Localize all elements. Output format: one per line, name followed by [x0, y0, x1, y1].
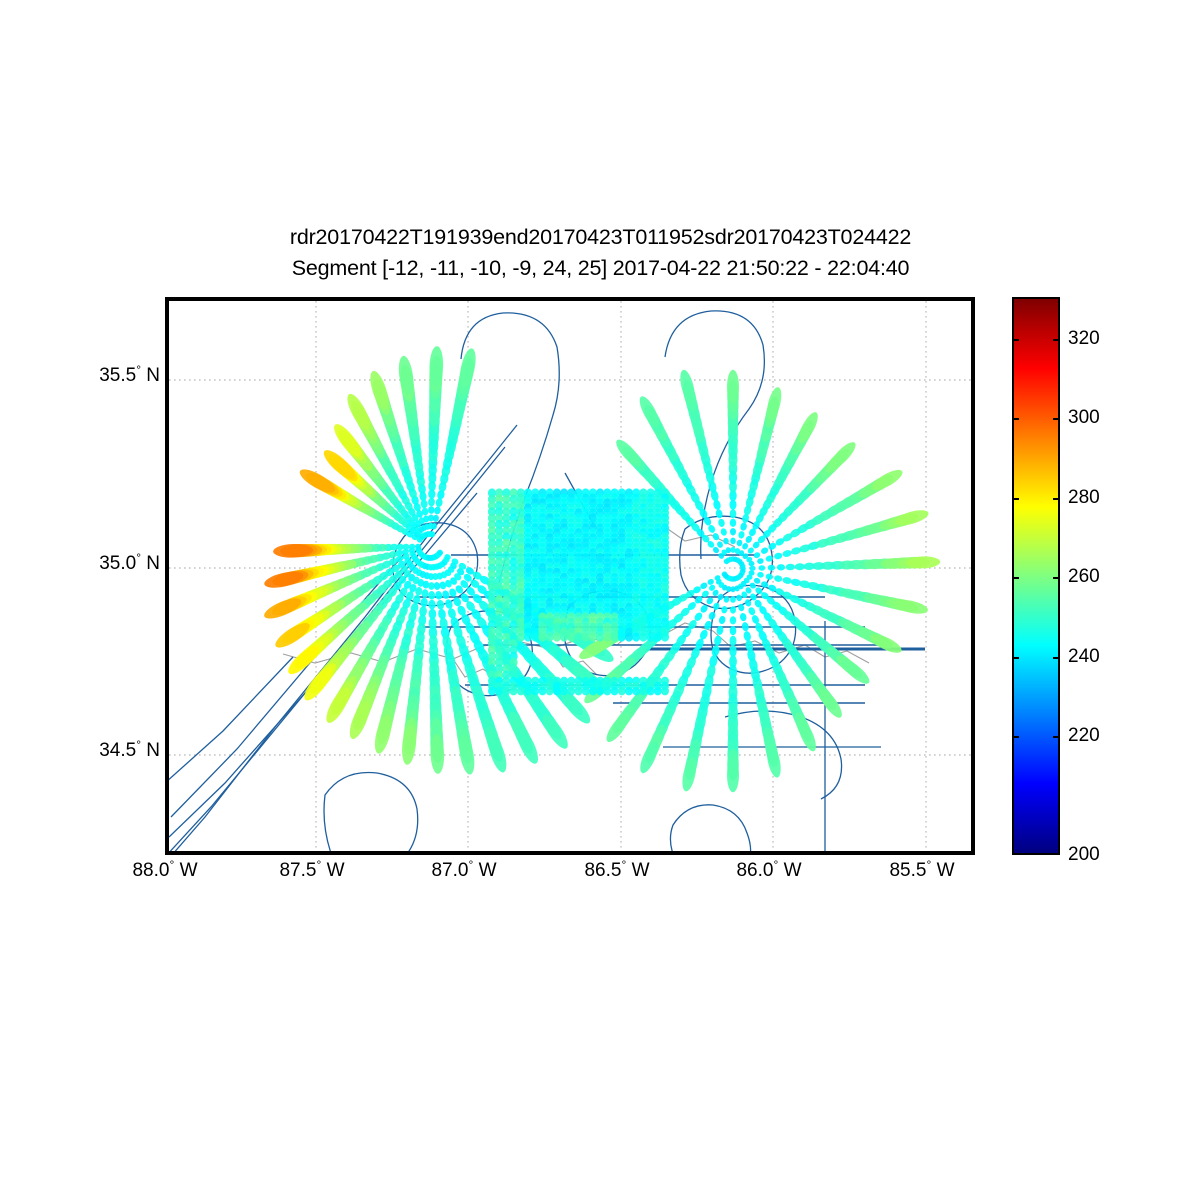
colorbar-tick-label: 260: [1068, 566, 1100, 588]
footprint-ellipse: [560, 632, 568, 641]
map-plot-area: [165, 297, 975, 855]
footprint-ellipse: [596, 687, 604, 696]
colorbar-tick-mark: [1053, 339, 1060, 341]
footprint-ellipse: [553, 632, 561, 641]
footprint-ellipse: [546, 632, 554, 641]
colorbar-tick-mark: [1053, 736, 1060, 738]
footprint-ellipse: [603, 632, 611, 641]
footprint-ellipse: [510, 687, 518, 696]
footprint-ellipse: [654, 632, 662, 641]
colorbar-tick-label: 220: [1068, 725, 1100, 747]
footprint-ellipse: [618, 632, 626, 641]
colorbar-tick-label: 200: [1068, 844, 1100, 866]
colorbar-tick-mark: [1012, 736, 1019, 738]
x-tick-label: 88.0° W: [132, 860, 197, 882]
plot-title: rdr20170422T191939end20170423T011952sdr2…: [0, 222, 1201, 284]
x-tick-label: 85.5° W: [889, 860, 954, 882]
footprint-ellipse: [596, 632, 604, 641]
footprint-ellipse: [730, 509, 737, 518]
x-tick-label: 86.5° W: [584, 860, 649, 882]
x-tick-label: 87.0° W: [431, 860, 496, 882]
footprint-ellipse: [517, 687, 525, 696]
colorbar[interactable]: 320300280260240220200: [1012, 297, 1060, 855]
footprint-ellipse: [560, 687, 568, 696]
footprint-ellipse: [618, 687, 626, 696]
footprint-ellipse: [730, 596, 736, 603]
x-tick-label: 87.5° W: [279, 860, 344, 882]
colorbar-tick-mark: [1012, 657, 1019, 659]
colorbar-tick-mark: [1053, 577, 1060, 579]
footprint-ellipse: [495, 687, 503, 696]
footprint-ellipse: [589, 632, 597, 641]
footprint-ellipse: [589, 687, 597, 696]
footprint-ellipse: [611, 687, 619, 696]
y-tick-label: 35.5° N: [36, 365, 160, 387]
footprint-ellipse: [632, 687, 640, 696]
footprint-ellipse: [567, 687, 575, 696]
footprint-ellipse: [730, 626, 737, 635]
y-tick-label: 34.5° N: [36, 740, 160, 762]
footprint-ellipse: [539, 687, 547, 696]
footprint-ellipse: [553, 687, 561, 696]
footprint-ellipse: [524, 687, 532, 696]
footprint-ellipse: [625, 687, 633, 696]
footprint-ellipse: [730, 547, 735, 553]
footprint-ellipse: [517, 632, 525, 641]
title-line-1: rdr20170422T191939end20170423T011952sdr2…: [0, 222, 1201, 253]
footprint-ellipse: [730, 538, 736, 545]
footprint-ellipse: [727, 370, 739, 405]
footprint-ellipse: [730, 606, 736, 613]
footprint-ellipse: [730, 616, 736, 624]
colorbar-tick-mark: [1012, 577, 1019, 579]
footprint-ellipse: [531, 687, 539, 696]
colorbar-tick-label: 320: [1068, 328, 1100, 350]
map-axes[interactable]: [165, 297, 975, 855]
footprint-ellipse: [661, 687, 669, 696]
footprint-ellipse: [730, 528, 736, 535]
colorbar-tick-label: 300: [1068, 407, 1100, 429]
footprint-ellipse: [661, 632, 669, 641]
colorbar-tick-mark: [1053, 657, 1060, 659]
footprint-ellipse: [654, 687, 662, 696]
footprint-ellipse: [730, 519, 736, 527]
footprint-ellipse: [647, 632, 655, 641]
footprint-ellipse: [582, 632, 590, 641]
footprint-ellipse: [610, 632, 618, 641]
y-tick-label: 35.0° N: [36, 553, 160, 575]
footprint-ellipse: [574, 632, 582, 641]
colorbar-tick-mark: [1012, 339, 1019, 341]
colorbar-tick-mark: [1012, 418, 1019, 420]
footprint-ellipse: [582, 687, 590, 696]
footprint-ellipse: [546, 687, 554, 696]
footprint-ellipse: [647, 687, 655, 696]
footprint-ellipse: [632, 632, 640, 641]
title-line-2: Segment [-12, -11, -10, -9, 24, 25] 2017…: [0, 253, 1201, 284]
footprint-ellipse: [727, 758, 739, 793]
x-tick-label: 86.0° W: [736, 860, 801, 882]
footprint-ellipse: [730, 636, 737, 646]
footprint-ellipse: [524, 632, 532, 641]
colorbar-tick-mark: [1012, 498, 1019, 500]
colorbar-tick-mark: [1053, 418, 1060, 420]
footprint-ellipse: [625, 632, 633, 641]
footprint-ellipse: [639, 687, 647, 696]
footprint-ellipse: [603, 687, 611, 696]
footprint-ellipse: [567, 632, 575, 641]
footprint-ellipse: [531, 632, 539, 641]
colorbar-tick-mark: [1053, 498, 1060, 500]
footprint-ellipse: [729, 646, 736, 657]
footprint-ellipse: [502, 687, 510, 696]
footprint-ellipse: [488, 687, 496, 696]
colorbar-gradient: [1012, 297, 1060, 855]
colorbar-tick-label: 240: [1068, 646, 1100, 668]
footprint-ellipse: [575, 687, 583, 696]
figure-canvas: rdr20170422T191939end20170423T011952sdr2…: [0, 0, 1201, 1201]
colorbar-tick-label: 280: [1068, 487, 1100, 509]
footprint-ellipse: [639, 632, 647, 641]
footprint-ellipse: [538, 632, 546, 641]
